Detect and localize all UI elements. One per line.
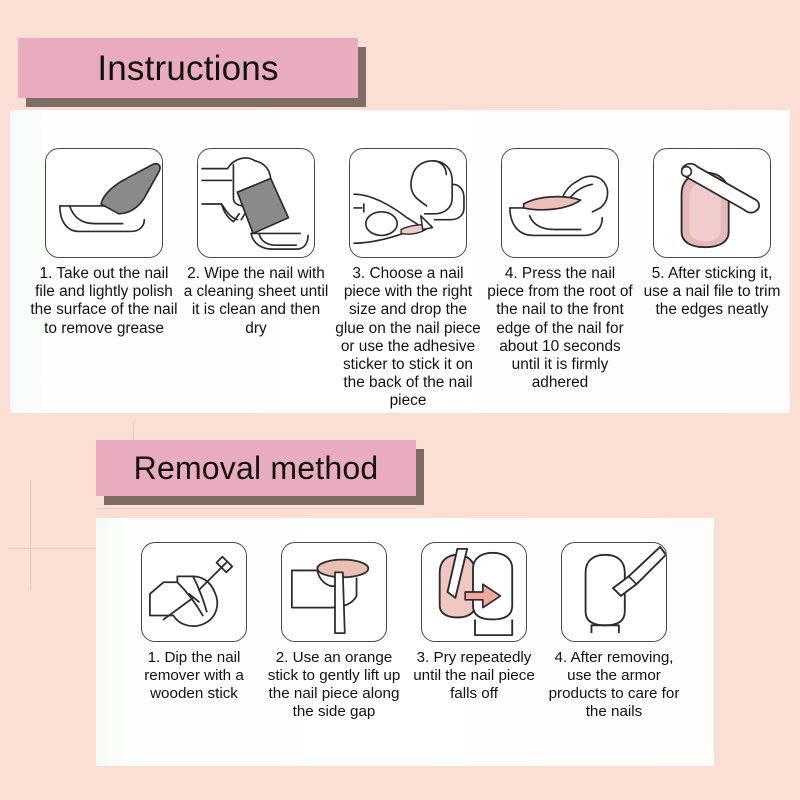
instructions-steps: 1. Take out the nail file and lightly po…: [10, 148, 800, 410]
instructions-panel: 1. Take out the nail file and lightly po…: [10, 110, 790, 413]
removal-step-2: 2. Use an orange stick to gently lift up…: [264, 542, 404, 721]
instructions-banner-plate: Instructions: [18, 38, 358, 98]
removal-panel: 1. Dip the nail remover with a wooden st…: [96, 518, 714, 766]
removal-steps: 1. Dip the nail remover with a wooden st…: [96, 542, 770, 721]
instruction-step-4-text: 4. Press the nail piece from the root of…: [484, 265, 636, 392]
trim-edges-file-icon: [653, 148, 771, 258]
armor-care-brush-icon: [561, 542, 667, 642]
instruction-step-4: 4. Press the nail piece from the root of…: [484, 148, 636, 410]
background-guide-line-horizontal-secondary: [96, 508, 416, 509]
removal-step-1: 1. Dip the nail remover with a wooden st…: [124, 542, 264, 721]
press-nail-piece-icon: [501, 148, 619, 258]
removal-banner: Removal method: [96, 440, 416, 496]
instruction-step-2-text: 2. Wipe the nail with a cleaning sheet u…: [180, 265, 332, 338]
removal-step-1-text: 1. Dip the nail remover with a wooden st…: [124, 649, 264, 703]
instruction-step-2: 2. Wipe the nail with a cleaning sheet u…: [180, 148, 332, 410]
removal-title: Removal method: [134, 452, 379, 484]
pry-nail-piece-icon: [421, 542, 527, 642]
instructions-banner: Instructions: [18, 38, 358, 98]
instruction-step-1: 1. Take out the nail file and lightly po…: [28, 148, 180, 410]
orange-stick-lift-icon: [281, 542, 387, 642]
removal-step-4: 4. After removing, use the armor product…: [544, 542, 684, 721]
nail-file-polish-icon: [45, 148, 163, 258]
instruction-step-3: 3. Choose a nail piece with the right si…: [332, 148, 484, 410]
removal-step-2-text: 2. Use an orange stick to gently lift up…: [264, 649, 404, 721]
dip-remover-wooden-stick-icon: [141, 542, 247, 642]
removal-step-3: 3. Pry repeatedly until the nail piece f…: [404, 542, 544, 721]
instruction-step-1-text: 1. Take out the nail file and lightly po…: [28, 265, 180, 338]
background-guide-line-vertical: [30, 480, 31, 590]
choose-nail-piece-glue-icon: [349, 148, 467, 258]
removal-banner-plate: Removal method: [96, 440, 416, 496]
instruction-step-5-text: 5. After sticking it, use a nail file to…: [636, 265, 788, 320]
instruction-step-3-text: 3. Choose a nail piece with the right si…: [332, 265, 484, 410]
instruction-step-5: 5. After sticking it, use a nail file to…: [636, 148, 788, 410]
instructions-title: Instructions: [97, 51, 278, 86]
removal-step-3-text: 3. Pry repeatedly until the nail piece f…: [404, 649, 544, 703]
cleaning-sheet-wipe-icon: [197, 148, 315, 258]
removal-step-4-text: 4. After removing, use the armor product…: [544, 649, 684, 721]
